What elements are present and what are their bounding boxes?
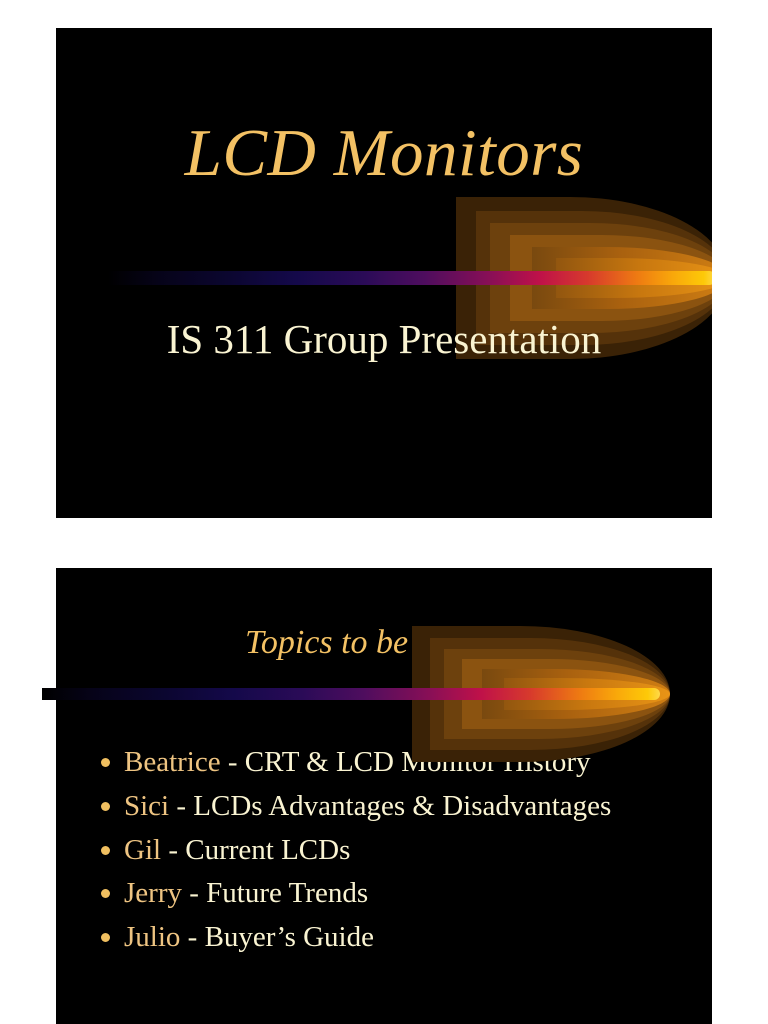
topic-presenter: Jerry: [124, 877, 182, 909]
list-item: Beatrice - CRT & LCD Monitor History: [96, 745, 696, 780]
list-item: Julio - Buyer’s Guide: [96, 920, 696, 955]
topic-presenter: Julio: [124, 921, 180, 953]
slide-title[interactable]: LCD Monitors IS 311 Group Presentation: [56, 28, 712, 518]
bullet-dot-icon: [101, 802, 110, 811]
slide-title-text: LCD Monitors: [56, 120, 712, 187]
comet-gradient-bar: [108, 271, 712, 285]
comet-shell-6: [556, 258, 712, 298]
topic-separator: -: [169, 790, 193, 822]
topic-separator: -: [182, 877, 206, 909]
topic-label: LCDs Advantages & Disadvantages: [193, 790, 611, 822]
list-item: Jerry - Future Trends: [96, 876, 696, 911]
topic-label: Future Trends: [206, 877, 368, 909]
topic-label: CRT & LCD Monitor History: [245, 746, 591, 778]
list-item: Sici - LCDs Advantages & Disadvantages: [96, 789, 696, 824]
topic-separator: -: [221, 746, 245, 778]
comet-shell-5: [532, 247, 712, 309]
topics-heading: Topics to be covered: [56, 626, 712, 660]
topic-separator: -: [161, 834, 185, 866]
comet-shell-4: [510, 235, 712, 321]
bullet-dot-icon: [101, 889, 110, 898]
slide-topics[interactable]: Topics to be covered Beatrice - CRT & LC…: [56, 568, 712, 1024]
bullet-dot-icon: [101, 846, 110, 855]
topic-label: Current LCDs: [185, 834, 350, 866]
slide-subtitle-text: IS 311 Group Presentation: [56, 316, 712, 363]
topic-presenter: Beatrice: [124, 746, 221, 778]
topics-list: Beatrice - CRT & LCD Monitor History Sic…: [96, 745, 696, 964]
topic-separator: -: [180, 921, 204, 953]
topic-presenter: Sici: [124, 790, 169, 822]
bullet-dot-icon: [101, 933, 110, 942]
topic-label: Buyer’s Guide: [205, 921, 374, 953]
bullet-dot-icon: [101, 758, 110, 767]
list-item: Gil - Current LCDs: [96, 833, 696, 868]
topic-presenter: Gil: [124, 834, 161, 866]
